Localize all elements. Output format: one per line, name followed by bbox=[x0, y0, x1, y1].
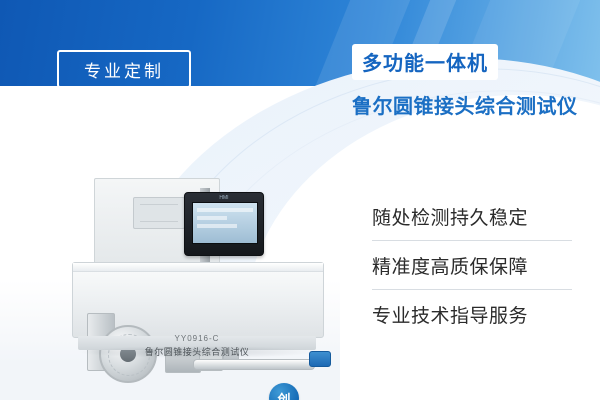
screen-line bbox=[197, 224, 237, 228]
headline-block: 多功能一体机 鲁尔圆锥接头综合测试仪 bbox=[352, 44, 592, 119]
machine-control-panel: HMI bbox=[184, 192, 264, 256]
machine-model-code: YY0916-C bbox=[72, 334, 322, 343]
machine-panel-brand: HMI bbox=[211, 195, 237, 201]
promo-banner: 专业定制 多功能一体机 鲁尔圆锥接头综合测试仪 随处检测持久稳定 精准度高质保保… bbox=[0, 0, 600, 400]
custom-made-badge-label: 专业定制 bbox=[84, 57, 164, 82]
machine-touchscreen bbox=[192, 202, 258, 244]
feature-item: 专业技术指导服务 bbox=[372, 290, 572, 338]
machine-base: 创 bbox=[72, 262, 324, 338]
machine-back-window bbox=[133, 197, 185, 229]
headline-sub-title: 鲁尔圆锥接头综合测试仪 bbox=[352, 90, 592, 119]
machine-base-top-edge bbox=[73, 263, 323, 272]
machine-rail bbox=[193, 359, 315, 370]
feature-item: 精准度高质保保障 bbox=[372, 241, 572, 290]
headline-main-title: 多功能一体机 bbox=[352, 44, 498, 80]
screen-line bbox=[197, 208, 253, 212]
screen-line bbox=[197, 216, 227, 220]
feature-item: 随处检测持久稳定 bbox=[372, 192, 572, 241]
machine-drop-shadow bbox=[80, 346, 314, 358]
product-illustration: HMI 创 YY0916-C 鲁尔圆锥接头综合测试仪 bbox=[72, 178, 322, 374]
feature-list: 随处检测持久稳定 精准度高质保保障 专业技术指导服务 bbox=[372, 192, 572, 338]
custom-made-badge: 专业定制 bbox=[57, 50, 191, 88]
